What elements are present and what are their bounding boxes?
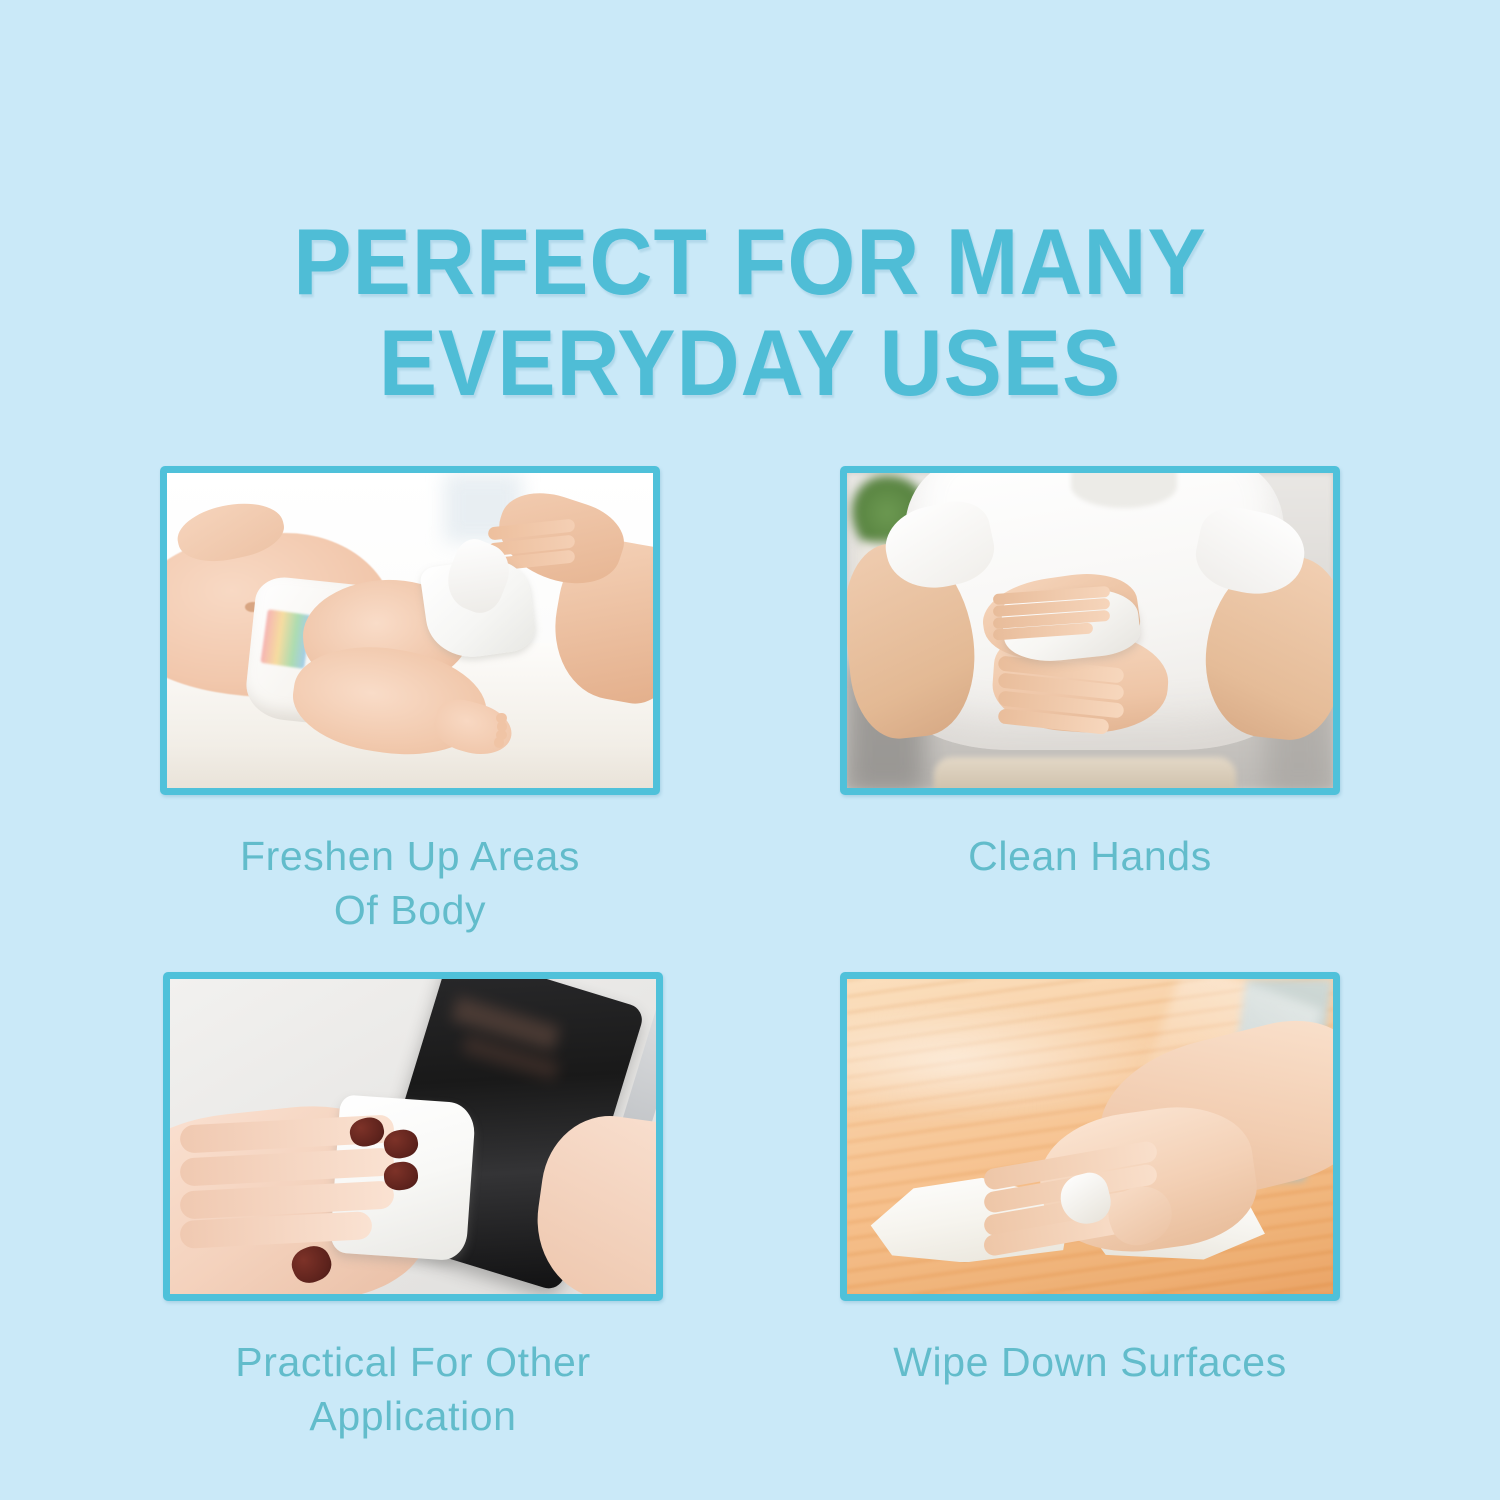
- photo-frame: [163, 972, 663, 1301]
- card-caption-line-1: Practical For Other: [163, 1335, 663, 1389]
- card-caption-line-2: Application: [163, 1389, 663, 1443]
- card-caption: Clean Hands: [840, 829, 1340, 883]
- card-caption-line-2: Of Body: [160, 883, 660, 937]
- photo-frame: [840, 972, 1340, 1301]
- page-title-line-1: PERFECT FOR MANY: [53, 211, 1448, 313]
- card-caption-line-1: Clean Hands: [840, 829, 1340, 883]
- card-caption: Freshen Up Areas Of Body: [160, 829, 660, 937]
- photo-frame: [840, 466, 1340, 795]
- infographic-page: PERFECT FOR MANY EVERYDAY USES: [0, 0, 1500, 1500]
- page-title-line-2: EVERYDAY USES: [53, 312, 1448, 414]
- card-caption-line-1: Freshen Up Areas: [160, 829, 660, 883]
- use-case-card: Freshen Up Areas Of Body: [160, 466, 660, 937]
- phone-screen-wipe-photo: [170, 979, 656, 1294]
- card-caption: Practical For Other Application: [163, 1335, 663, 1443]
- use-case-card: Clean Hands: [840, 466, 1340, 883]
- card-caption-line-1: Wipe Down Surfaces: [840, 1335, 1340, 1389]
- clean-hands-photo: [847, 473, 1333, 788]
- card-caption: Wipe Down Surfaces: [840, 1335, 1340, 1389]
- photo-frame: [160, 466, 660, 795]
- baby-diaper-change-photo: [167, 473, 653, 788]
- use-case-card: Wipe Down Surfaces: [840, 972, 1340, 1389]
- page-title: PERFECT FOR MANY EVERYDAY USES: [53, 211, 1448, 414]
- use-case-grid: Freshen Up Areas Of Body: [160, 466, 1340, 1366]
- table-surface-wipe-photo: [847, 979, 1333, 1294]
- use-case-card: Practical For Other Application: [163, 972, 663, 1443]
